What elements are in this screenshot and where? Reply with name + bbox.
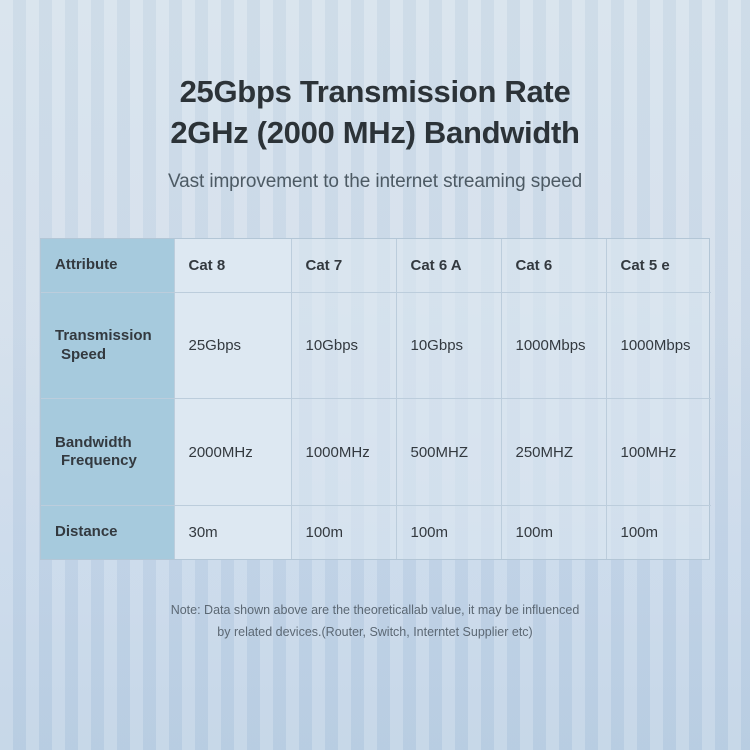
row-label-distance: Distance: [41, 506, 174, 559]
column-header-cat6a: Cat 6 A: [396, 239, 501, 292]
cell-bandwidth-frequency-cat6a: 500MHZ: [396, 399, 501, 506]
footnote: Note: Data shown above are the theoretic…: [0, 600, 750, 643]
cell-transmission-speed-cat6: 1000Mbps: [501, 292, 606, 399]
cell-transmission-speed-cat8: 25Gbps: [174, 292, 291, 399]
row-label-line-2: Frequency: [55, 452, 160, 471]
cell-bandwidth-frequency-cat5e: 100MHz: [606, 399, 711, 506]
column-header-cat6: Cat 6: [501, 239, 606, 292]
row-label-line-2: Speed: [55, 346, 160, 365]
footnote-line-2: by related devices.(Router, Switch, Inte…: [0, 622, 750, 644]
page-subtitle: Vast improvement to the internet streami…: [0, 171, 750, 193]
row-label-line-1: Bandwidth: [55, 434, 132, 451]
cell-transmission-speed-cat6a: 10Gbps: [396, 292, 501, 399]
row-label-line-1: Distance: [55, 523, 118, 540]
column-header-attribute: Attribute: [41, 239, 174, 292]
spec-comparison-table: Attribute Cat 8 Cat 7 Cat 6 A Cat 6 Cat …: [40, 238, 710, 560]
row-label-transmission-speed: TransmissionSpeed: [41, 292, 174, 399]
cell-bandwidth-frequency-cat7: 1000MHz: [291, 399, 396, 506]
table-header-row: Attribute Cat 8 Cat 7 Cat 6 A Cat 6 Cat …: [41, 239, 711, 292]
row-label-line-1: Transmission: [55, 327, 152, 344]
cell-distance-cat7: 100m: [291, 506, 396, 559]
table-row: Distance 30m 100m 100m 100m 100m: [41, 506, 711, 559]
cell-bandwidth-frequency-cat8: 2000MHz: [174, 399, 291, 506]
row-label-bandwidth-frequency: BandwidthFrequency: [41, 399, 174, 506]
cell-distance-cat5e: 100m: [606, 506, 711, 559]
cell-bandwidth-frequency-cat6: 250MHZ: [501, 399, 606, 506]
page-title-line-2: 2GHz (2000 MHz) Bandwidth: [0, 113, 750, 154]
table-row: TransmissionSpeed 25Gbps 10Gbps 10Gbps 1…: [41, 292, 711, 399]
column-header-cat7: Cat 7: [291, 239, 396, 292]
cell-distance-cat8: 30m: [174, 506, 291, 559]
heading-block: 25Gbps Transmission Rate 2GHz (2000 MHz)…: [0, 72, 750, 193]
infographic-panel: 25Gbps Transmission Rate 2GHz (2000 MHz)…: [0, 0, 750, 750]
column-header-cat5e: Cat 5 e: [606, 239, 711, 292]
table-row: BandwidthFrequency 2000MHz 1000MHz 500MH…: [41, 399, 711, 506]
footnote-line-1: Note: Data shown above are the theoretic…: [0, 600, 750, 622]
cell-distance-cat6a: 100m: [396, 506, 501, 559]
column-header-cat8: Cat 8: [174, 239, 291, 292]
cell-transmission-speed-cat5e: 1000Mbps: [606, 292, 711, 399]
cell-transmission-speed-cat7: 10Gbps: [291, 292, 396, 399]
page-title-line-1: 25Gbps Transmission Rate: [0, 72, 750, 113]
cell-distance-cat6: 100m: [501, 506, 606, 559]
